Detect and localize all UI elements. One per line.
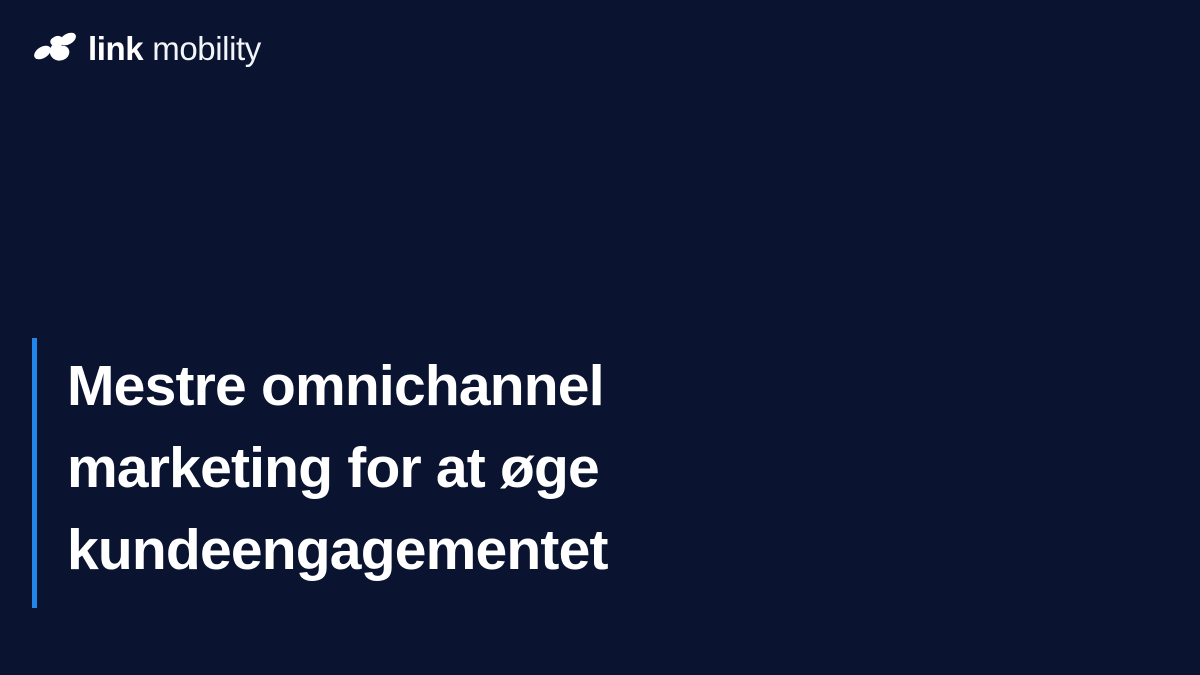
page-title: Mestre omnichannel marketing for at øge …: [37, 338, 608, 608]
slide-canvas: link mobility Mestre omnichannel marketi…: [0, 0, 1200, 675]
logo-wordmark: link mobility: [88, 32, 261, 65]
logo-word-link: link: [88, 32, 143, 65]
hero-headline-block: Mestre omnichannel marketing for at øge …: [32, 338, 608, 608]
headline-line-3: kundeengagementet: [67, 509, 608, 591]
logo-word-mobility: mobility: [152, 32, 261, 65]
headline-line-2: marketing for at øge: [67, 427, 608, 509]
headline-line-1: Mestre omnichannel: [67, 345, 608, 427]
brand-logo[interactable]: link mobility: [33, 27, 261, 69]
link-mobility-blob-mark-icon: [33, 31, 79, 65]
